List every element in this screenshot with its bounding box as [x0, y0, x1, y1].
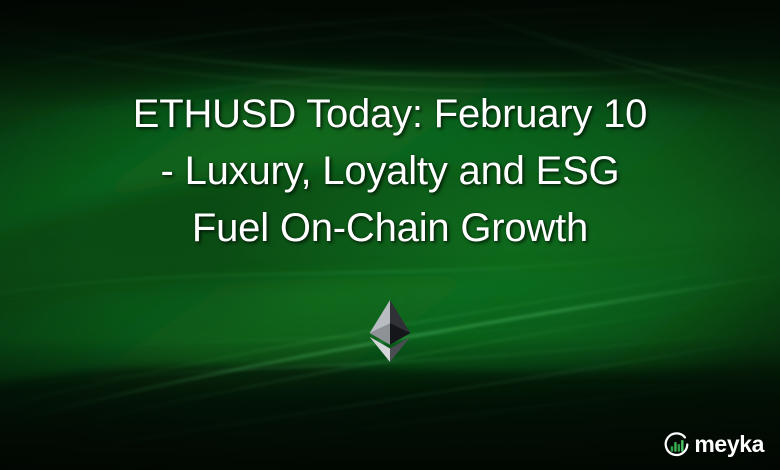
social-share-card: ETHUSD Today: February 10 - Luxury, Loya…: [0, 0, 780, 470]
brand-name: meyka: [694, 433, 764, 456]
meyka-circle-bars-icon: [663, 431, 690, 458]
page-title: ETHUSD Today: February 10 - Luxury, Loya…: [0, 86, 780, 257]
ethereum-icon: [369, 300, 411, 362]
brand-logo[interactable]: meyka: [663, 431, 764, 458]
